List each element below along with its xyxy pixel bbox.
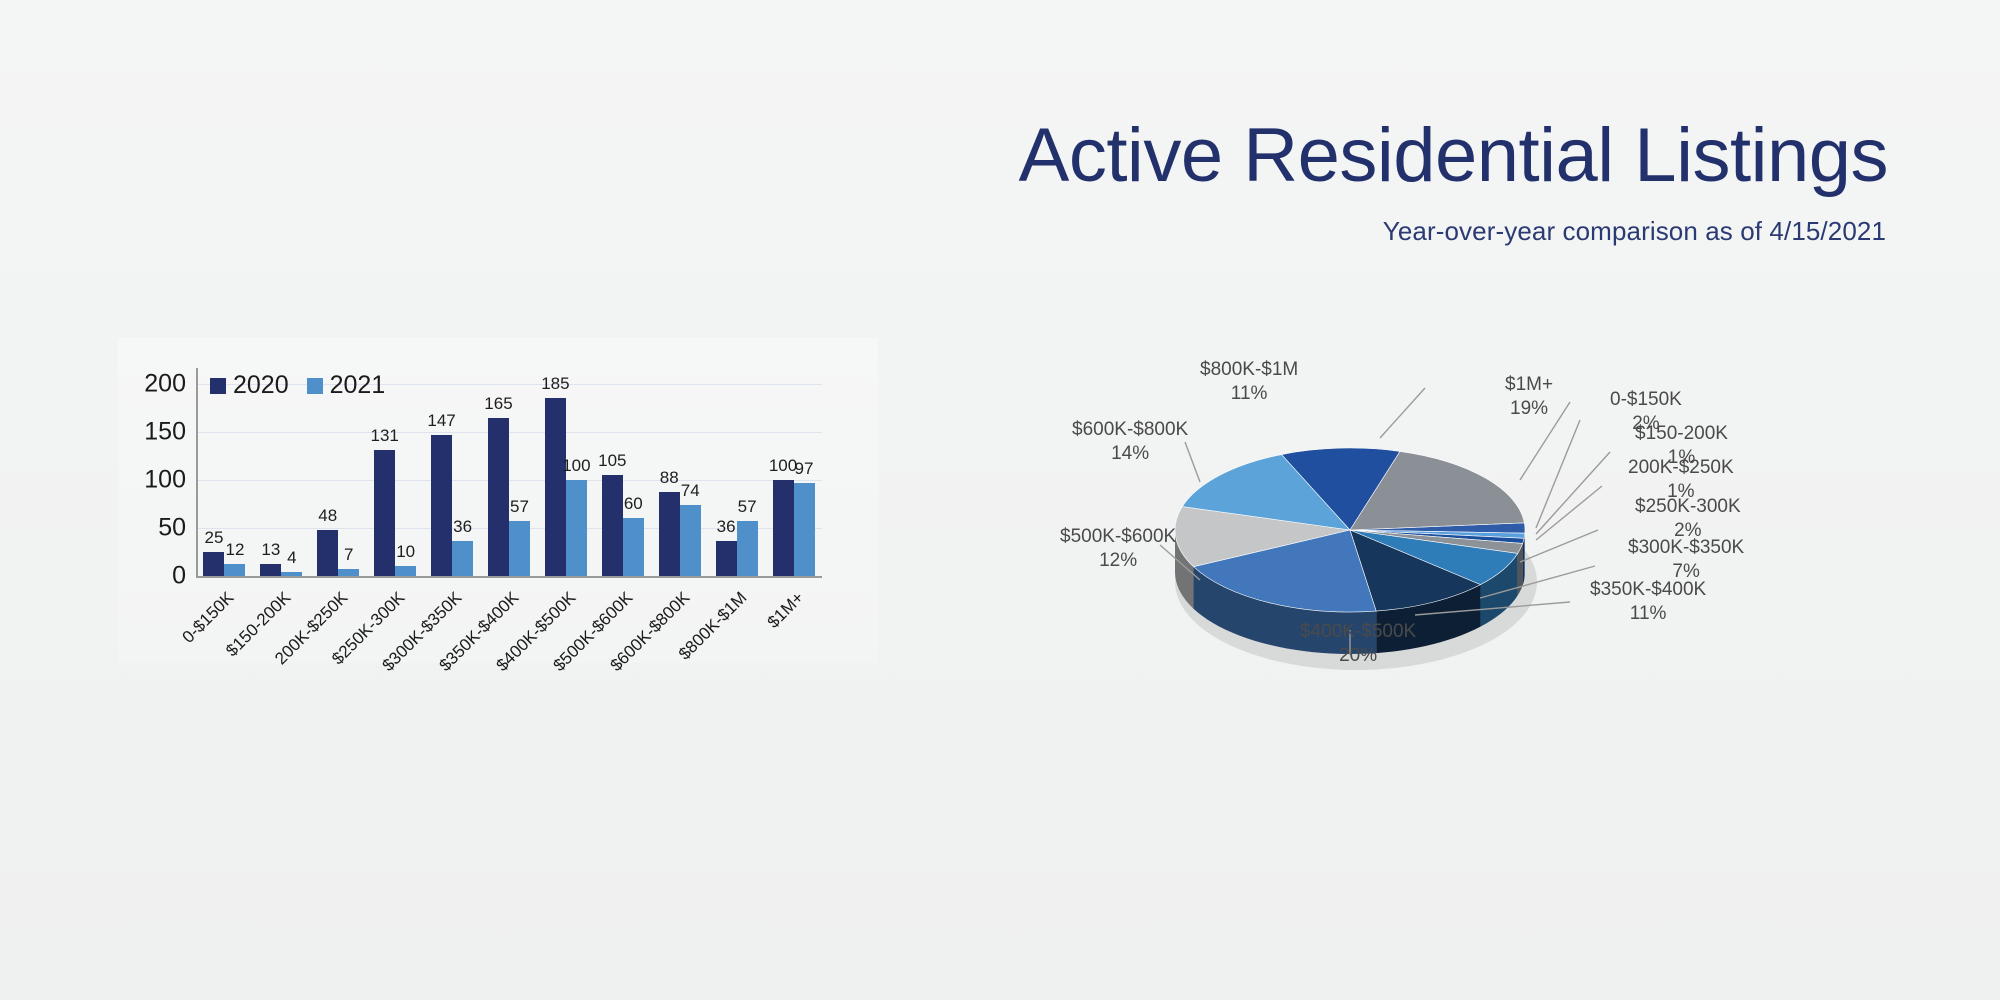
pie-label-$500K-$600K: $500K-$600K12% xyxy=(1060,525,1176,573)
bar-group: 185100 xyxy=(537,384,594,576)
y-axis-tick-label: 200 xyxy=(144,370,186,399)
bar-2020[interactable] xyxy=(773,480,794,576)
pie-label-$800K-$1M: $800K-$1M11% xyxy=(1200,358,1298,406)
bar-2021[interactable] xyxy=(737,521,758,576)
pie-label-$1M+: $1M+19% xyxy=(1505,373,1553,421)
legend-swatch-icon xyxy=(307,378,323,394)
bar-wrapper: 165 xyxy=(488,384,509,576)
y-axis-tick-label: 100 xyxy=(144,466,186,495)
bar-value-label: 57 xyxy=(510,497,529,517)
bar-group: 16557 xyxy=(481,384,538,576)
bar-value-label: 10 xyxy=(396,542,415,562)
bar-2021[interactable] xyxy=(395,566,416,576)
pie-label-category: $600K-$800K xyxy=(1072,418,1188,442)
bar-group: 13110 xyxy=(367,384,424,576)
bar-wrapper: 7 xyxy=(338,384,359,576)
pie-slice-side-$150-200K xyxy=(1524,533,1525,580)
y-axis-tick-label: 150 xyxy=(144,418,186,447)
bar-value-label: 100 xyxy=(562,456,590,476)
bar-wrapper: 10 xyxy=(395,384,416,576)
pie-chart: 0-$150K2%$150-200K1%200K-$250K1%$250K-30… xyxy=(1050,330,1950,760)
bar-group: 8874 xyxy=(651,384,708,576)
pie-label-percent: 11% xyxy=(1590,602,1706,626)
pie-label-percent: 11% xyxy=(1200,382,1298,406)
bar-2021[interactable] xyxy=(224,564,245,576)
bar-value-label: 13 xyxy=(261,540,280,560)
bar-group: 3657 xyxy=(708,384,765,576)
bar-2021[interactable] xyxy=(509,521,530,576)
bar-wrapper: 36 xyxy=(716,384,737,576)
bar-wrapper: 74 xyxy=(680,384,701,576)
bar-2020[interactable] xyxy=(545,398,566,576)
bar-chart-bars: 2512134487131101473616557185100105608874… xyxy=(196,384,822,576)
bar-2021[interactable] xyxy=(566,480,587,576)
bar-2020[interactable] xyxy=(488,418,509,576)
y-axis-tick-label: 50 xyxy=(158,514,186,543)
bar-value-label: 88 xyxy=(660,468,679,488)
page-subtitle: Year-over-year comparison as of 4/15/202… xyxy=(0,216,1900,247)
bar-wrapper: 25 xyxy=(203,384,224,576)
bar-value-label: 74 xyxy=(681,481,700,501)
pie-label-category: 200K-$250K xyxy=(1628,456,1734,480)
bar-value-label: 4 xyxy=(287,548,296,568)
bar-group: 10560 xyxy=(594,384,651,576)
bar-wrapper: 131 xyxy=(374,384,395,576)
bar-chart-x-axis-line xyxy=(196,576,822,578)
bar-chart-x-axis-labels: 0-$150K$150-200K200K-$250K$250K-300K$300… xyxy=(196,582,822,672)
bar-value-label: 36 xyxy=(453,517,472,537)
pie-label-category: $300K-$350K xyxy=(1628,536,1744,560)
bar-value-label: 48 xyxy=(318,506,337,526)
bar-2021[interactable] xyxy=(452,541,473,576)
pie-label-category: $350K-$400K xyxy=(1590,578,1706,602)
bar-wrapper: 147 xyxy=(431,384,452,576)
pie-label-$350K-$400K: $350K-$400K11% xyxy=(1590,578,1706,626)
bar-group: 10097 xyxy=(765,384,822,576)
bar-group: 134 xyxy=(253,384,310,576)
pie-label-percent: 14% xyxy=(1072,442,1188,466)
infographic-canvas: Active Residential Listings Year-over-ye… xyxy=(0,0,2000,1000)
bar-wrapper: 36 xyxy=(452,384,473,576)
bar-value-label: 7 xyxy=(344,545,353,565)
pie-label-percent: 20% xyxy=(1300,644,1416,668)
bar-wrapper: 48 xyxy=(317,384,338,576)
bar-value-label: 60 xyxy=(624,494,643,514)
bar-2020[interactable] xyxy=(203,552,224,576)
bar-2020[interactable] xyxy=(659,492,680,576)
bar-value-label: 57 xyxy=(738,497,757,517)
page-title: Active Residential Listings xyxy=(0,118,1900,194)
pie-label-percent: 19% xyxy=(1505,397,1553,421)
pie-label-category: $500K-$600K xyxy=(1060,525,1176,549)
bar-group: 2512 xyxy=(196,384,253,576)
pie-label-category: $400K-$500K xyxy=(1300,620,1416,644)
bar-value-label: 12 xyxy=(225,540,244,560)
bar-wrapper: 60 xyxy=(623,384,644,576)
pie-label-$600K-$800K: $600K-$800K14% xyxy=(1072,418,1188,466)
bar-value-label: 36 xyxy=(717,517,736,537)
bar-wrapper: 97 xyxy=(794,384,815,576)
bar-value-label: 25 xyxy=(204,528,223,548)
pie-label-category: 0-$150K xyxy=(1610,388,1682,412)
pie-label-$400K-$500K: $400K-$500K20% xyxy=(1300,620,1416,668)
bar-chart-legend: 20202021 xyxy=(210,371,385,400)
pie-leader-line xyxy=(1536,452,1610,534)
bar-2021[interactable] xyxy=(794,483,815,576)
bar-wrapper: 57 xyxy=(509,384,530,576)
bar-2020[interactable] xyxy=(260,564,281,576)
pie-label-category: $150-200K xyxy=(1635,422,1728,446)
bar-wrapper: 13 xyxy=(260,384,281,576)
bar-2021[interactable] xyxy=(281,572,302,576)
bar-2020[interactable] xyxy=(602,475,623,576)
bar-group: 487 xyxy=(310,384,367,576)
pie-label-category: $250K-300K xyxy=(1635,495,1741,519)
x-axis-tick-label: $1M+ xyxy=(763,588,808,633)
bar-wrapper: 57 xyxy=(737,384,758,576)
bar-chart-y-axis-labels: 050100150200 xyxy=(118,374,186,584)
legend-swatch-icon xyxy=(210,378,226,394)
bar-2020[interactable] xyxy=(374,450,395,576)
pie-chart-svg xyxy=(1050,330,1950,760)
pie-leader-line xyxy=(1380,388,1425,438)
bar-2021[interactable] xyxy=(623,518,644,576)
bar-wrapper: 185 xyxy=(545,384,566,576)
pie-label-category: $800K-$1M xyxy=(1200,358,1298,382)
legend-item-2021[interactable]: 2021 xyxy=(307,371,386,400)
pie-label-category: $1M+ xyxy=(1505,373,1553,397)
pie-slice-side-200K-$250K xyxy=(1523,538,1524,585)
x-axis-label-cell: $1M+ xyxy=(765,582,822,672)
bar-wrapper: 88 xyxy=(659,384,680,576)
bar-2020[interactable] xyxy=(431,435,452,576)
bar-2020[interactable] xyxy=(317,530,338,576)
header: Active Residential Listings Year-over-ye… xyxy=(0,118,1900,247)
pie-leader-line xyxy=(1536,420,1580,528)
bar-wrapper: 105 xyxy=(602,384,623,576)
bar-group: 14736 xyxy=(424,384,481,576)
bar-wrapper: 4 xyxy=(281,384,302,576)
pie-label-$300K-$350K: $300K-$350K7% xyxy=(1628,536,1744,584)
bar-wrapper: 12 xyxy=(224,384,245,576)
legend-label: 2020 xyxy=(233,371,289,400)
bar-value-label: 97 xyxy=(795,459,814,479)
bar-2021[interactable] xyxy=(338,569,359,576)
legend-item-2020[interactable]: 2020 xyxy=(210,371,289,400)
bar-2020[interactable] xyxy=(716,541,737,576)
bar-wrapper: 100 xyxy=(566,384,587,576)
pie-label-percent: 12% xyxy=(1060,549,1176,573)
x-axis-label-cell: $800K-$1M xyxy=(708,582,765,672)
bar-2021[interactable] xyxy=(680,505,701,576)
bar-wrapper: 100 xyxy=(773,384,794,576)
legend-label: 2021 xyxy=(330,371,386,400)
y-axis-tick-label: 0 xyxy=(172,562,186,591)
pie-leader-line xyxy=(1520,530,1598,562)
